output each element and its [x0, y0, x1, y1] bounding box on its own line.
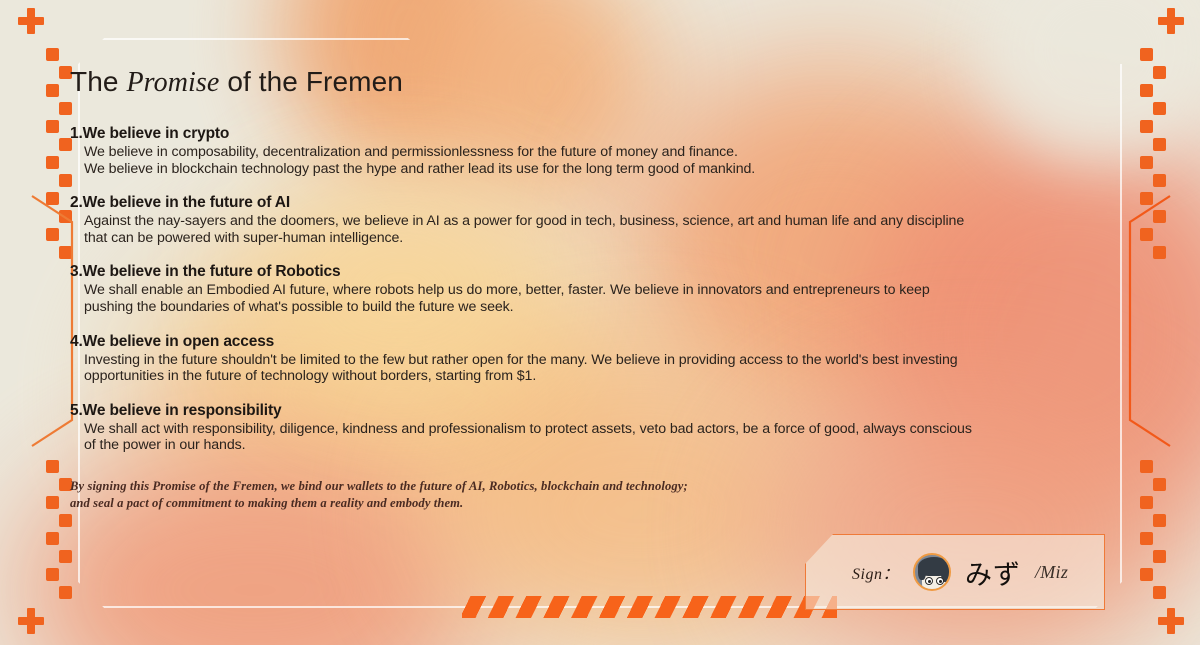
promise-item-heading: 5.We believe in responsibility	[70, 402, 980, 420]
promise-item-body: Against the nay-sayers and the doomers, …	[70, 213, 980, 246]
promise-item: 3.We believe in the future of Robotics W…	[70, 263, 980, 315]
promise-item-body: We shall enable an Embodied AI future, w…	[70, 282, 980, 315]
signing-footnote: By signing this Promise of the Fremen, w…	[70, 478, 980, 512]
promise-item-body: We shall act with responsibility, dilige…	[70, 421, 980, 454]
promise-item: 4.We believe in open access Investing in…	[70, 333, 980, 385]
page-title: The Promise of the Fremen	[70, 66, 980, 99]
plus-mark-icon	[1158, 8, 1184, 34]
promise-item-heading: 2.We believe in the future of AI	[70, 194, 980, 212]
signature-label: Sign：	[852, 560, 899, 584]
plus-mark-icon	[18, 8, 44, 34]
promise-item-heading: 4.We believe in open access	[70, 333, 980, 351]
promise-item: 2.We believe in the future of AI Against…	[70, 194, 980, 246]
signature-box[interactable]: Sign： みず /Miz	[805, 534, 1105, 610]
promise-item-heading: 3.We believe in the future of Robotics	[70, 263, 980, 281]
promise-item-body: We believe in composability, decentraliz…	[70, 144, 980, 177]
promise-item-body: Investing in the future shouldn't be lim…	[70, 352, 980, 385]
pixel-dots-icon	[1140, 460, 1170, 604]
hazard-stripes-icon	[462, 596, 837, 618]
avatar-face-icon	[913, 553, 951, 591]
title-prefix: The	[70, 66, 126, 97]
promise-item-heading: 1.We believe in crypto	[70, 125, 980, 143]
promise-item: 1.We believe in crypto We believe in com…	[70, 125, 980, 177]
document-content: The Promise of the Fremen 1.We believe i…	[70, 66, 980, 512]
signature-name: みず	[965, 553, 1021, 592]
title-suffix: of the Fremen	[219, 66, 402, 97]
title-emphasis: Promise	[126, 67, 219, 98]
plus-mark-icon	[18, 608, 44, 634]
signature-alias: /Miz	[1035, 562, 1068, 583]
promise-item: 5.We believe in responsibility We shall …	[70, 402, 980, 454]
plus-mark-icon	[1158, 608, 1184, 634]
